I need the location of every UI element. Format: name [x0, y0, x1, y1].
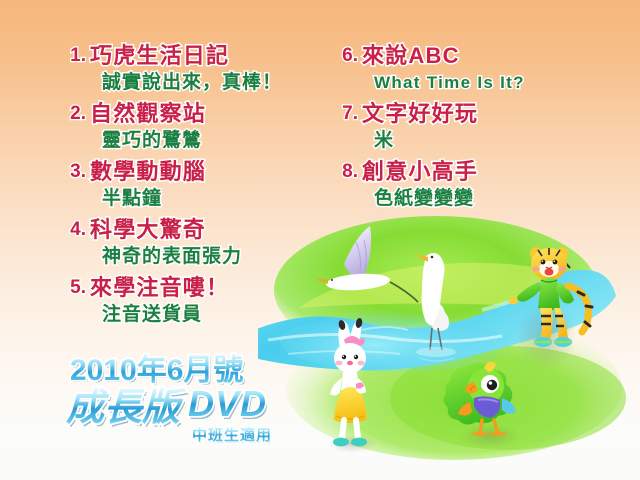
- dvd-line2-text: 成長版: [66, 387, 187, 429]
- program-number: 6.: [336, 42, 362, 70]
- program-item-6[interactable]: 6. 來說ABC What Time Is It?: [336, 42, 616, 96]
- program-list-right: 6. 來說ABC What Time Is It? 7. 文字好好玩 米 8. …: [336, 42, 616, 216]
- program-number: 1.: [64, 42, 90, 70]
- program-number: 3.: [64, 158, 90, 186]
- program-item-3[interactable]: 3. 數學動動腦 半點鐘: [64, 158, 334, 212]
- program-title: 巧虎生活日記: [90, 42, 334, 70]
- program-title: 來學注音嘍！: [90, 274, 334, 302]
- program-title: 自然觀察站: [90, 100, 334, 128]
- program-number: 2.: [64, 100, 90, 128]
- dvd-suffix-text: DVD: [188, 383, 267, 424]
- program-title: 數學動動腦: [90, 158, 334, 186]
- program-subtitle: 注音送貨員: [102, 302, 334, 328]
- program-item-7[interactable]: 7. 文字好好玩 米: [336, 100, 616, 154]
- program-title: 來說ABC: [362, 42, 616, 70]
- program-title: 創意小高手: [362, 158, 616, 186]
- program-subtitle: 誠實說出來，真棒！: [102, 70, 334, 96]
- program-item-8[interactable]: 8. 創意小高手 色紙變變變: [336, 158, 616, 212]
- program-subtitle: 半點鐘: [102, 186, 334, 212]
- program-subtitle: 靈巧的鷺鷥: [102, 128, 334, 154]
- dvd-title-line3: 中班生適用 中班生適用: [192, 426, 273, 446]
- program-number: 7.: [336, 100, 362, 128]
- program-subtitle: 色紙變變變: [374, 186, 616, 212]
- program-item-1[interactable]: 1. 巧虎生活日記 誠實說出來，真棒！: [64, 42, 334, 96]
- program-subtitle: 米: [374, 128, 616, 154]
- program-title: 文字好好玩: [362, 100, 616, 128]
- program-list-left: 1. 巧虎生活日記 誠實說出來，真棒！ 2. 自然觀察站 靈巧的鷺鷥 3. 數學…: [64, 42, 334, 332]
- dvd-title-block: 2010年6月號 2010年6月號 成長版 成長版 DVD DVD 中班生適用 …: [64, 352, 314, 448]
- dvd-title-line2: 成長版 成長版: [66, 387, 189, 432]
- program-title: 科學大驚奇: [90, 216, 334, 244]
- program-number: 5.: [64, 274, 90, 302]
- program-subtitle: 神奇的表面張力: [102, 244, 334, 270]
- dvd-title-suffix: DVD DVD: [188, 383, 269, 427]
- program-number: 8.: [336, 158, 362, 186]
- program-subtitle: What Time Is It?: [374, 70, 616, 96]
- program-number: 4.: [64, 216, 90, 244]
- dvd-line3-text: 中班生適用: [192, 426, 272, 444]
- program-item-5[interactable]: 5. 來學注音嘍！ 注音送貨員: [64, 274, 334, 328]
- program-item-4[interactable]: 4. 科學大驚奇 神奇的表面張力: [64, 216, 334, 270]
- program-item-2[interactable]: 2. 自然觀察站 靈巧的鷺鷥: [64, 100, 334, 154]
